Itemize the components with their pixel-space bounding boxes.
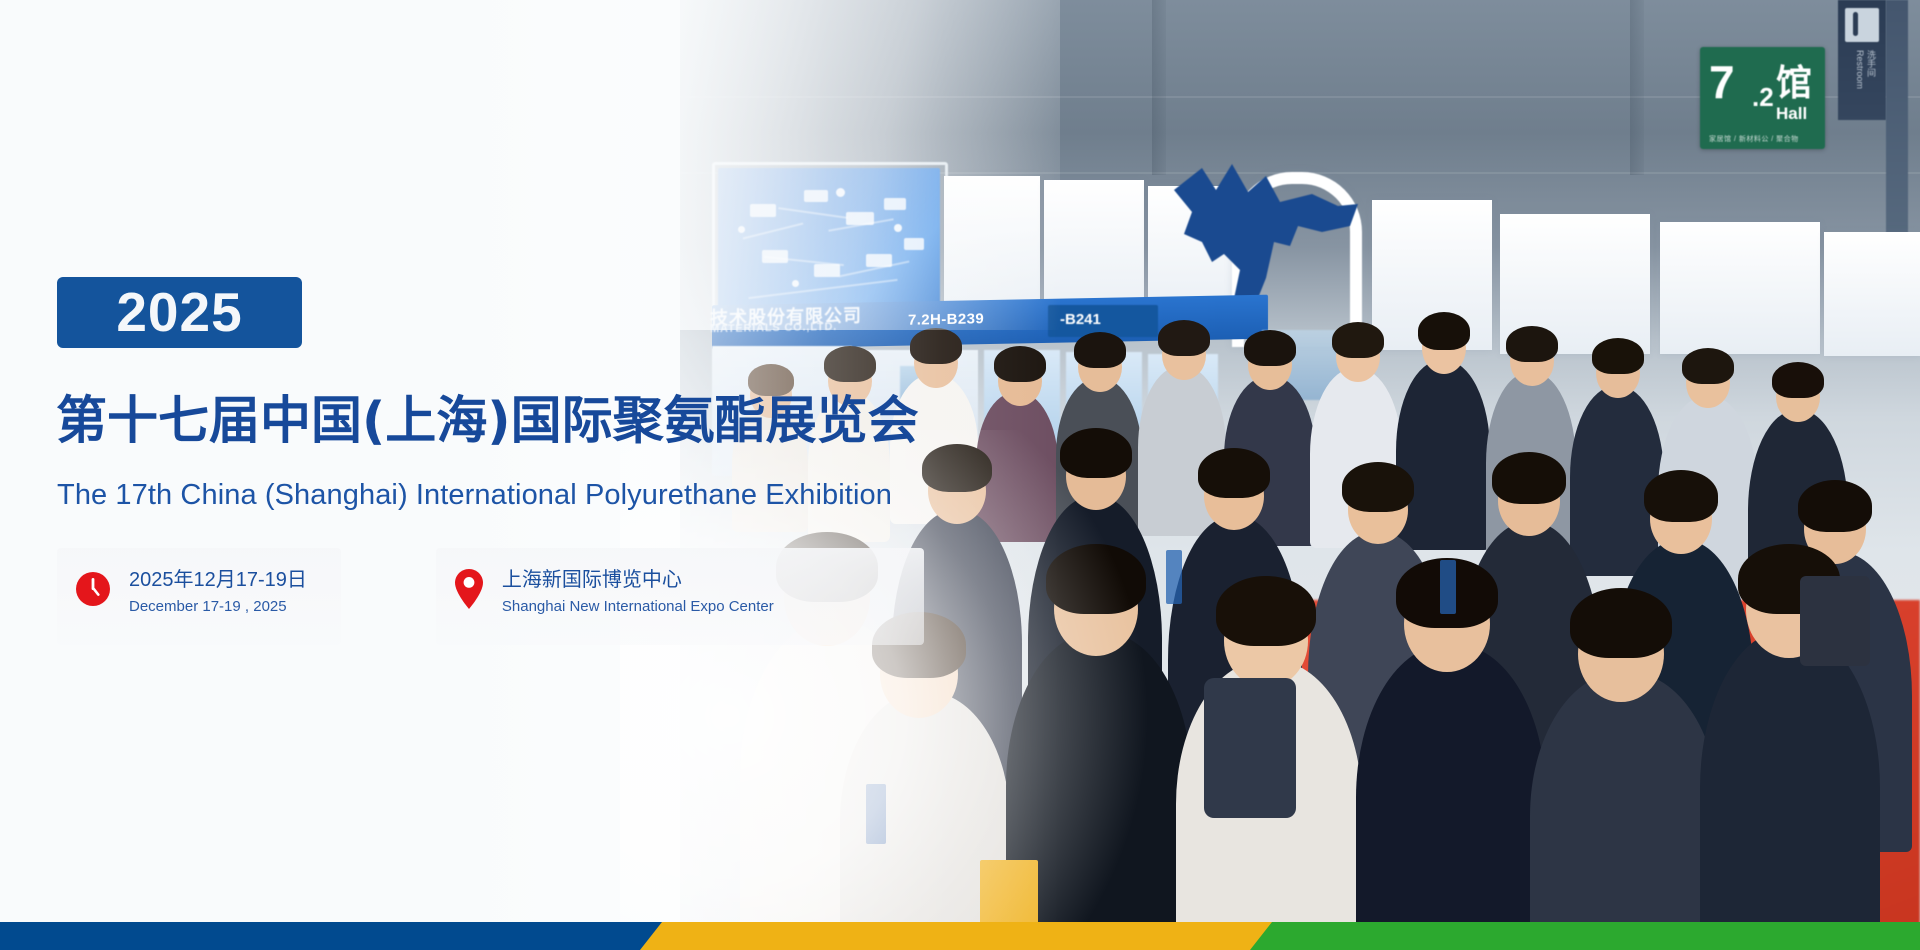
hall-sign-number: 7 bbox=[1709, 59, 1735, 105]
visitor-hair bbox=[1332, 322, 1384, 358]
page-title-chinese: 第十七届中国(上海)国际聚氨酯展览会 bbox=[56, 393, 919, 450]
visitor-hair bbox=[1342, 462, 1414, 512]
visitor-hair bbox=[1216, 576, 1316, 646]
wall-pillar bbox=[1630, 0, 1644, 175]
visitor bbox=[1396, 360, 1490, 550]
visitor-foreground bbox=[1530, 672, 1720, 950]
hall-number-sign: 7 .2 馆 Hall 家居馆 / 新材料公 / 聚合物 bbox=[1700, 47, 1825, 149]
poster-text-content: 2025 第十七届中国(上海)国际聚氨酯展览会 The 17th China (… bbox=[0, 0, 1060, 950]
event-date-text: 2025年12月17-19日 December 17-19 , 2025 bbox=[129, 566, 307, 617]
event-venue-en: Shanghai New International Expo Center bbox=[502, 598, 774, 617]
restroom-sign: 洗手间 Restroom bbox=[1838, 0, 1886, 120]
event-date-cn: 2025年12月17-19日 bbox=[129, 568, 307, 593]
visitor-hair bbox=[1158, 320, 1210, 356]
rolling-suitcase bbox=[1800, 576, 1870, 666]
restroom-pictogram-box bbox=[1845, 8, 1879, 42]
hall-sign-en-label: Hall bbox=[1776, 105, 1807, 122]
page-title-english: The 17th China (Shanghai) International … bbox=[57, 478, 892, 513]
event-info-row: 2025年12月17-19日 December 17-19 , 2025 上海新… bbox=[57, 548, 924, 645]
color-bar-segment-yellow bbox=[640, 922, 1280, 950]
visitor-hair bbox=[1772, 362, 1824, 398]
color-bar-segment-blue bbox=[0, 922, 670, 950]
restroom-sign-label: 洗手间 Restroom bbox=[1848, 50, 1876, 108]
restroom-figure-icon bbox=[1853, 12, 1858, 36]
visitor-hair bbox=[1570, 588, 1672, 658]
hall-sign-fine-print: 家居馆 / 新材料公 / 聚合物 bbox=[1709, 134, 1799, 144]
event-venue-text: 上海新国际博览中心 Shanghai New International Exp… bbox=[502, 566, 774, 617]
hall-sign-decimal: .2 bbox=[1752, 84, 1774, 110]
visitor-hair bbox=[1592, 338, 1644, 374]
visitor-hair bbox=[1506, 326, 1558, 362]
event-date-card: 2025年12月17-19日 December 17-19 , 2025 bbox=[57, 548, 341, 645]
clock-icon bbox=[75, 571, 111, 607]
visitor-hair bbox=[1074, 332, 1126, 368]
visitor-hair bbox=[1644, 470, 1718, 522]
dragon-sculpture-icon bbox=[1162, 150, 1362, 310]
wall-pillar bbox=[1152, 0, 1166, 175]
visitor-hair bbox=[1418, 312, 1470, 350]
year-badge-label: 2025 bbox=[116, 285, 242, 340]
bottom-color-bar bbox=[0, 922, 1920, 950]
visitor-hair bbox=[1244, 330, 1296, 366]
badge-lanyard bbox=[1166, 550, 1182, 604]
visitor-foreground bbox=[1356, 644, 1546, 950]
visitor-foreground bbox=[1700, 630, 1880, 950]
event-venue-cn: 上海新国际博览中心 bbox=[502, 568, 774, 593]
event-venue-card: 上海新国际博览中心 Shanghai New International Exp… bbox=[436, 548, 924, 645]
year-badge: 2025 bbox=[57, 277, 302, 348]
visitor-hair bbox=[1798, 480, 1872, 532]
event-date-en: December 17-19 , 2025 bbox=[129, 598, 307, 617]
visitor-hair bbox=[1682, 348, 1734, 384]
badge-lanyard bbox=[1440, 560, 1456, 614]
visitor-backpack bbox=[1204, 678, 1296, 818]
map-pin-icon bbox=[454, 568, 484, 610]
visitor-hair bbox=[1198, 448, 1270, 498]
hall-sign-cn-label: 馆 bbox=[1776, 65, 1812, 101]
exhibition-banner-poster: 7 .2 馆 Hall 家居馆 / 新材料公 / 聚合物 洗手间 Restroo… bbox=[0, 0, 1920, 950]
visitor-hair bbox=[1492, 452, 1566, 504]
color-bar-segment-green bbox=[1250, 922, 1920, 950]
